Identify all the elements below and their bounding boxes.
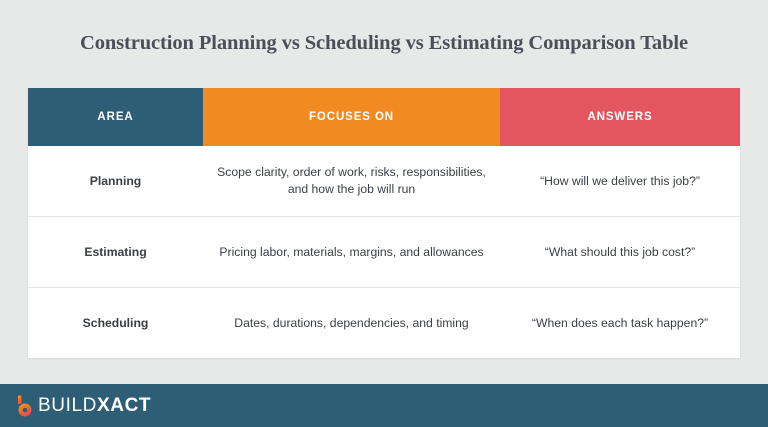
cell-area: Estimating [28,217,203,287]
column-header-area: AREA [28,88,203,146]
cell-answers: “What should this job cost?” [500,217,740,287]
logo-text-build: BUILD [38,395,97,416]
cell-focuses-on: Dates, durations, dependencies, and timi… [203,288,500,358]
column-header-answers: ANSWERS [500,88,740,146]
page-root: Construction Planning vs Scheduling vs E… [0,0,768,427]
cell-answers: “How will we deliver this job?” [500,146,740,216]
table-row: Planning Scope clarity, order of work, r… [28,146,740,217]
buildxact-b-mark-icon [16,395,35,417]
cell-answers: “When does each task happen?” [500,288,740,358]
cell-focuses-on: Scope clarity, order of work, risks, res… [203,146,500,216]
table-header-row: AREA FOCUSES ON ANSWERS [28,88,740,146]
buildxact-logo-text: BUILDXACT [38,396,151,415]
buildxact-logo: BUILDXACT [16,395,151,417]
cell-area: Planning [28,146,203,216]
page-title: Construction Planning vs Scheduling vs E… [0,30,768,56]
table-header: AREA FOCUSES ON ANSWERS [28,88,740,146]
column-header-focuses-on: FOCUSES ON [203,88,500,146]
cell-area: Scheduling [28,288,203,358]
comparison-table: AREA FOCUSES ON ANSWERS Planning Scope c… [28,88,740,358]
logo-text-xact: XACT [97,395,151,416]
cell-focuses-on: Pricing labor, materials, margins, and a… [203,217,500,287]
table-row: Estimating Pricing labor, materials, mar… [28,217,740,288]
table-row: Scheduling Dates, durations, dependencie… [28,288,740,358]
table-body: Planning Scope clarity, order of work, r… [28,146,740,358]
footer-bar: BUILDXACT [0,384,768,427]
